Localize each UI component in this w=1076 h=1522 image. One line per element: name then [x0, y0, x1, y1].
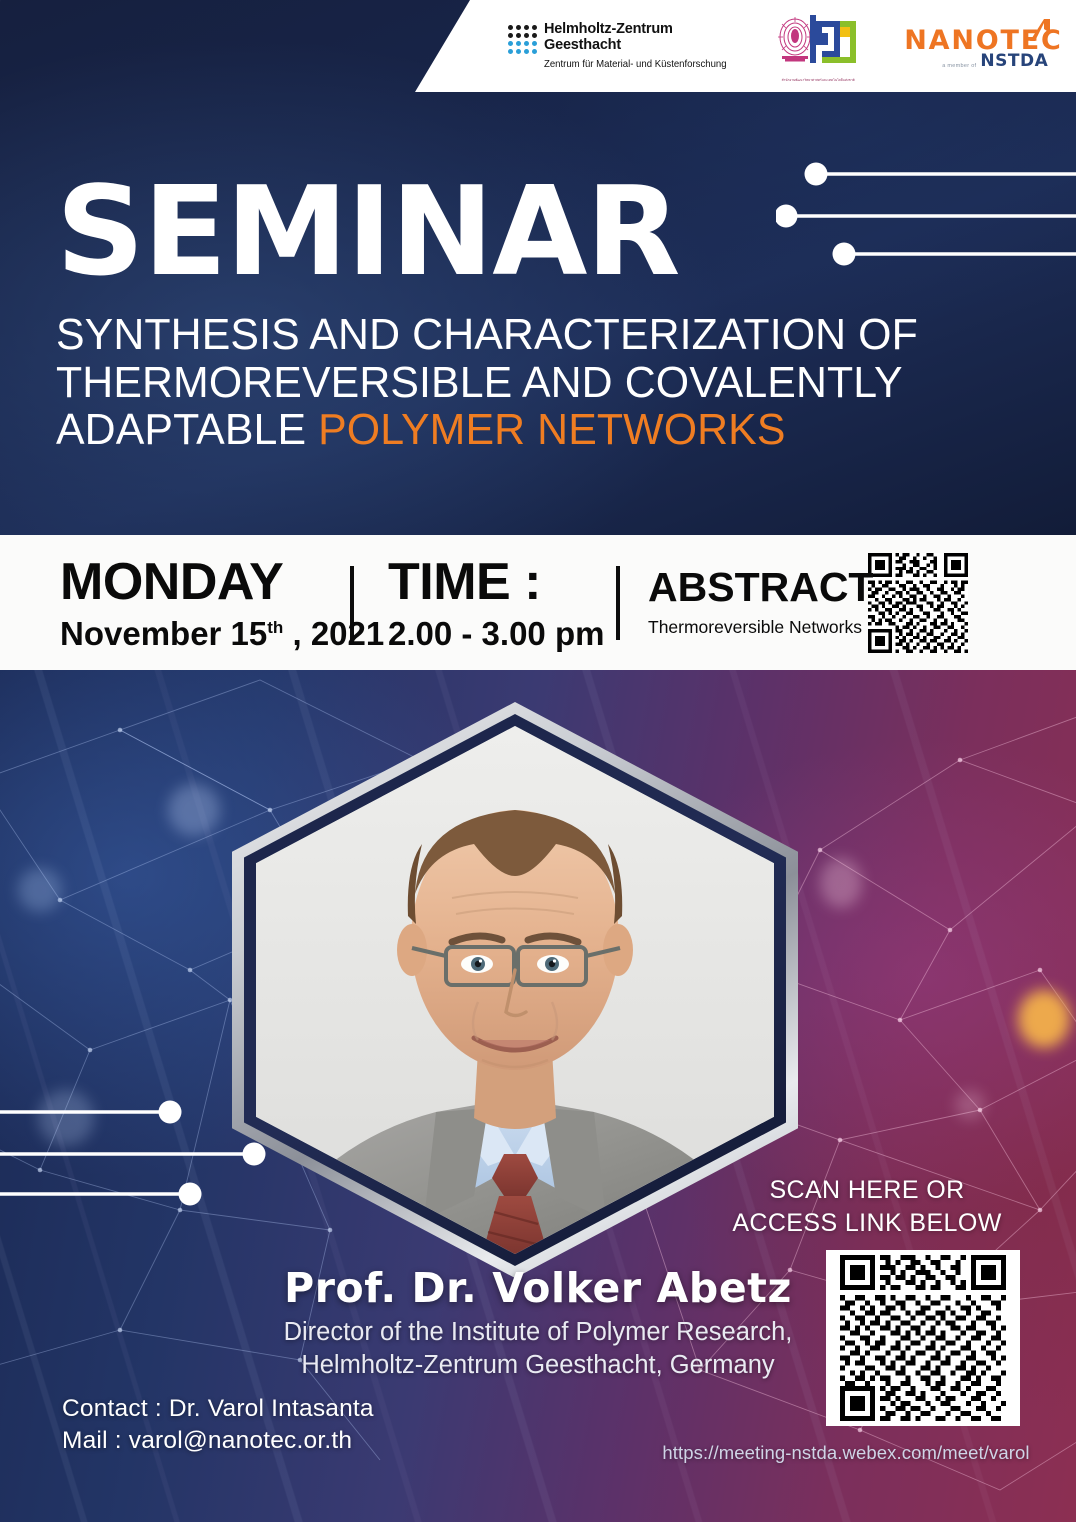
scan-line-1: SCAN HERE OR — [702, 1174, 1032, 1207]
abstract-qr-code[interactable] — [868, 553, 968, 653]
seminar-subtitle: SYNTHESIS AND CHARACTERIZATION OF THERMO… — [56, 312, 1002, 454]
subtitle-line-3: ADAPTABLE POLYMER NETWORKS — [56, 407, 1002, 454]
nanotec-swoosh-icon — [1026, 17, 1052, 43]
webex-meeting-url[interactable]: https://meeting-nstda.webex.com/meet/var… — [636, 1442, 1056, 1464]
scan-instructions: SCAN HERE OR ACCESS LINK BELOW — [702, 1174, 1032, 1239]
abstract-label: ABSTRACT — [648, 567, 848, 608]
contact-person: Contact : Dr. Varol Intasanta — [62, 1393, 374, 1425]
speaker-section: Prof. Dr. Volker Abetz Director of the I… — [0, 670, 1076, 1522]
event-date-block: MONDAY November 15th , 2021 — [0, 535, 350, 670]
abstract-topic: Thermoreversible Networks — [648, 617, 848, 638]
nanotec-nstda-logo: NANOTEC a member of NSTDA — [898, 15, 1058, 77]
scan-line-2: ACCESS LINK BELOW — [702, 1207, 1032, 1240]
helmholtz-line-2: Geesthacht — [544, 38, 738, 54]
bokeh-glow-2 — [18, 868, 62, 912]
webex-meeting-qr-code[interactable] — [826, 1250, 1020, 1426]
helmholtz-dot-grid-icon — [508, 25, 537, 54]
nstda-wordmark: NSTDA — [980, 51, 1048, 71]
helmholtz-tagline: Zentrum für Material- und Küstenforschun… — [544, 59, 727, 70]
subtitle-line-2: THERMOREVERSIBLE AND COVALENTLY — [56, 360, 1002, 407]
helmholtz-line-1: Helmholtz-Zentrum — [544, 22, 738, 38]
bokeh-glow-1 — [168, 784, 220, 836]
event-info-bar: MONDAY November 15th , 2021 TIME : 2.00 … — [0, 535, 1076, 670]
abstract-block: ABSTRACT Thermoreversible Networks — [620, 535, 858, 670]
pea-thailand-logo: สำนักงานพัฒนาวิทยาศาสตร์และเทคโนโลยีแห่ง… — [772, 9, 864, 83]
webex-qr-code-image — [831, 1255, 1015, 1421]
nanotec-member-of-label: a member of — [942, 63, 976, 71]
logo-band-content: Helmholtz-Zentrum Geesthacht Zentrum für… — [470, 0, 1076, 92]
event-date-label: November 15th , 2021 — [60, 617, 330, 650]
event-time-value: 2.00 - 3.00 pm — [388, 617, 596, 650]
subtitle-line-3-highlight: POLYMER NETWORKS — [318, 406, 785, 454]
event-date-ordinal: th — [267, 618, 283, 637]
event-time-label: TIME : — [388, 556, 596, 608]
event-day-label: MONDAY — [60, 556, 330, 608]
event-date-monthday: November 15 — [60, 615, 267, 652]
contact-info: Contact : Dr. Varol Intasanta Mail : var… — [62, 1393, 374, 1458]
bokeh-glow-4 — [820, 858, 862, 908]
event-time-block: TIME : 2.00 - 3.00 pm — [354, 535, 616, 670]
page-title: SEMINAR — [56, 176, 1016, 290]
heading-block: SEMINAR SYNTHESIS AND CHARACTERIZATION O… — [56, 176, 1016, 455]
seminar-poster: SEMINAR SYNTHESIS AND CHARACTERIZATION O… — [0, 0, 1076, 1522]
subtitle-line-1: SYNTHESIS AND CHARACTERIZATION OF — [56, 312, 1002, 359]
helmholtz-zentrum-geesthacht-logo: Helmholtz-Zentrum Geesthacht Zentrum für… — [508, 22, 738, 69]
subtitle-line-3-prefix: ADAPTABLE — [56, 406, 318, 454]
pea-monogram-icon — [806, 13, 862, 65]
pea-caption: สำนักงานพัฒนาวิทยาศาสตร์และเทคโนโลยีแห่ง… — [772, 78, 864, 82]
bokeh-glow-orange — [1018, 990, 1070, 1048]
bokeh-glow-5 — [955, 1090, 985, 1120]
contact-email[interactable]: Mail : varol@nanotec.or.th — [62, 1425, 374, 1457]
